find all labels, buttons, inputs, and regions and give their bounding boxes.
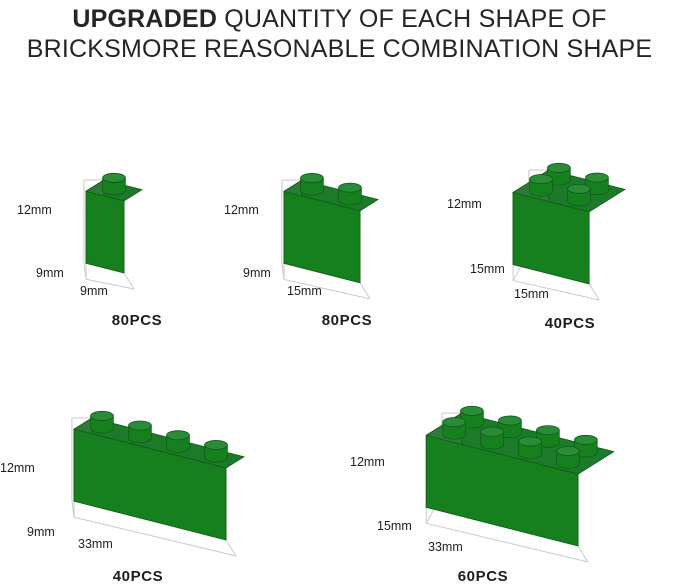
depth-dimension-2x4: 15mm [377, 519, 412, 533]
height-dimension-1x4: 12mm [0, 461, 35, 475]
depth-dimension-1x4: 9mm [27, 525, 55, 539]
quantity-label-2x2: 40PCS [530, 315, 610, 332]
height-dimension-2x2: 12mm [447, 197, 482, 211]
brick-body-1x1 [86, 173, 142, 273]
brick-2x4 [400, 395, 648, 588]
brick-2x2 [487, 152, 659, 326]
brick-1x2 [258, 162, 412, 325]
quantity-label-2x4: 60PCS [443, 568, 523, 585]
width-dimension-1x4: 33mm [78, 537, 113, 551]
height-dimension-1x2: 12mm [224, 203, 259, 217]
brick-1x1 [60, 162, 176, 315]
brick-body-2x4 [426, 406, 614, 546]
brick-diagram-stage: 80PCS12mm9mm9mm 80PCS12mm9mm15mm 40PCS12… [0, 0, 679, 583]
brick-body-1x4 [74, 411, 244, 540]
brick-body-1x2 [284, 173, 378, 282]
brick-body-2x2 [513, 163, 625, 284]
width-dimension-1x1: 9mm [80, 284, 108, 298]
brick-1x4 [48, 400, 278, 582]
depth-dimension-1x2: 9mm [243, 266, 271, 280]
width-dimension-1x2: 15mm [287, 284, 322, 298]
depth-dimension-2x2: 15mm [470, 262, 505, 276]
height-dimension-2x4: 12mm [350, 455, 385, 469]
width-dimension-2x2: 15mm [514, 287, 549, 301]
quantity-label-1x1: 80PCS [97, 312, 177, 329]
width-dimension-2x4: 33mm [428, 540, 463, 554]
height-dimension-1x1: 12mm [17, 203, 52, 217]
quantity-label-1x2: 80PCS [307, 312, 387, 329]
depth-dimension-1x1: 9mm [36, 266, 64, 280]
quantity-label-1x4: 40PCS [98, 568, 178, 585]
